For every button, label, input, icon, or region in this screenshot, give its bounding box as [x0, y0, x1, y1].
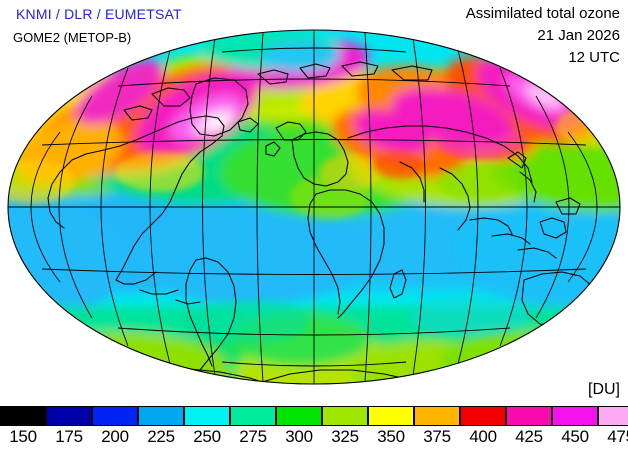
legend-entry: 325 [322, 406, 368, 447]
legend-entry: 400 [460, 406, 506, 447]
legend-swatch [184, 406, 230, 426]
mollweide-globe [0, 22, 628, 396]
legend-entry: 175 [46, 406, 92, 447]
legend-swatch [506, 406, 552, 426]
legend-swatch [598, 406, 628, 426]
legend-entry: 450 [552, 406, 598, 447]
unit-label: [DU] [588, 381, 620, 399]
legend-entry: 200 [92, 406, 138, 447]
legend-tick-label: 200 [101, 427, 128, 447]
legend-tick-label: 150 [9, 427, 36, 447]
legend-tick-label: 175 [55, 427, 82, 447]
legend-tick-label: 350 [377, 427, 404, 447]
legend-swatch [230, 406, 276, 426]
legend-tick-label: 450 [561, 427, 588, 447]
legend-tick-label: 400 [469, 427, 496, 447]
legend-tick-label: 325 [331, 427, 358, 447]
legend-entry: 350 [368, 406, 414, 447]
legend-entry: 275 [230, 406, 276, 447]
color-legend: 1501752002252502753003253503754004254504… [0, 406, 628, 452]
page-title: Assimilated total ozone [466, 5, 620, 22]
legend-entry: 475 [598, 406, 628, 447]
legend-entry: 300 [276, 406, 322, 447]
legend-tick-label: 375 [423, 427, 450, 447]
legend-tick-label: 425 [515, 427, 542, 447]
legend-tick-label: 225 [147, 427, 174, 447]
legend-entry: 425 [506, 406, 552, 447]
legend-swatch [414, 406, 460, 426]
legend-swatch [368, 406, 414, 426]
legend-tick-label: 250 [193, 427, 220, 447]
legend-entry: 250 [184, 406, 230, 447]
legend-tick-label: 475 [607, 427, 628, 447]
legend-swatch [460, 406, 506, 426]
legend-entry: 225 [138, 406, 184, 447]
legend-swatch [138, 406, 184, 426]
legend-tick-label: 300 [285, 427, 312, 447]
legend-swatch [0, 406, 46, 426]
legend-swatch [92, 406, 138, 426]
legend-swatch [46, 406, 92, 426]
legend-swatch [276, 406, 322, 426]
credit-label: KNMI / DLR / EUMETSAT [16, 6, 182, 22]
legend-entry: 150 [0, 406, 46, 447]
ozone-map-figure: KNMI / DLR / EUMETSAT GOME2 (METOP-B) As… [0, 0, 628, 452]
legend-swatch [322, 406, 368, 426]
world-map [0, 22, 628, 396]
legend-tick-label: 275 [239, 427, 266, 447]
legend-swatch [552, 406, 598, 426]
legend-entry: 375 [414, 406, 460, 447]
